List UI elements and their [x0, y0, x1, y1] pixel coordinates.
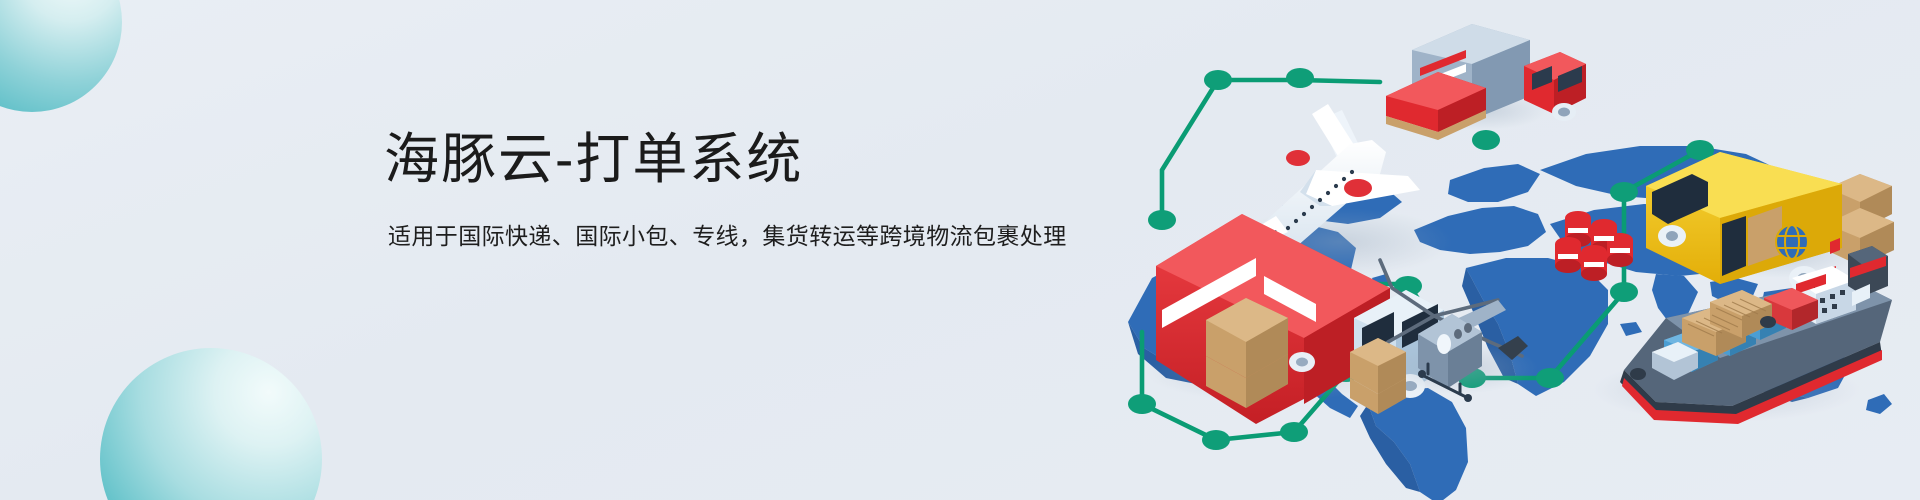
banner-copy: 海豚云-打单系统 适用于国际快递、国际小包、专线，集货转运等跨境物流包裹处理 [384, 128, 1067, 251]
cargo-truck-gray-icon [1386, 24, 1586, 140]
cardboard-boxes-icon [1350, 338, 1406, 414]
page-title: 海豚云-打单系统 [384, 128, 1067, 191]
decorative-circle-bottom-left [100, 348, 322, 500]
page-subtitle: 适用于国际快递、国际小包、专线，集货转运等跨境物流包裹处理 [388, 217, 1067, 251]
hero-illustration [1020, 0, 1920, 500]
hero-banner: 海豚云-打单系统 适用于国际快递、国际小包、专线，集货转运等跨境物流包裹处理 [0, 0, 1920, 500]
decorative-circle-top-left [0, 0, 122, 112]
